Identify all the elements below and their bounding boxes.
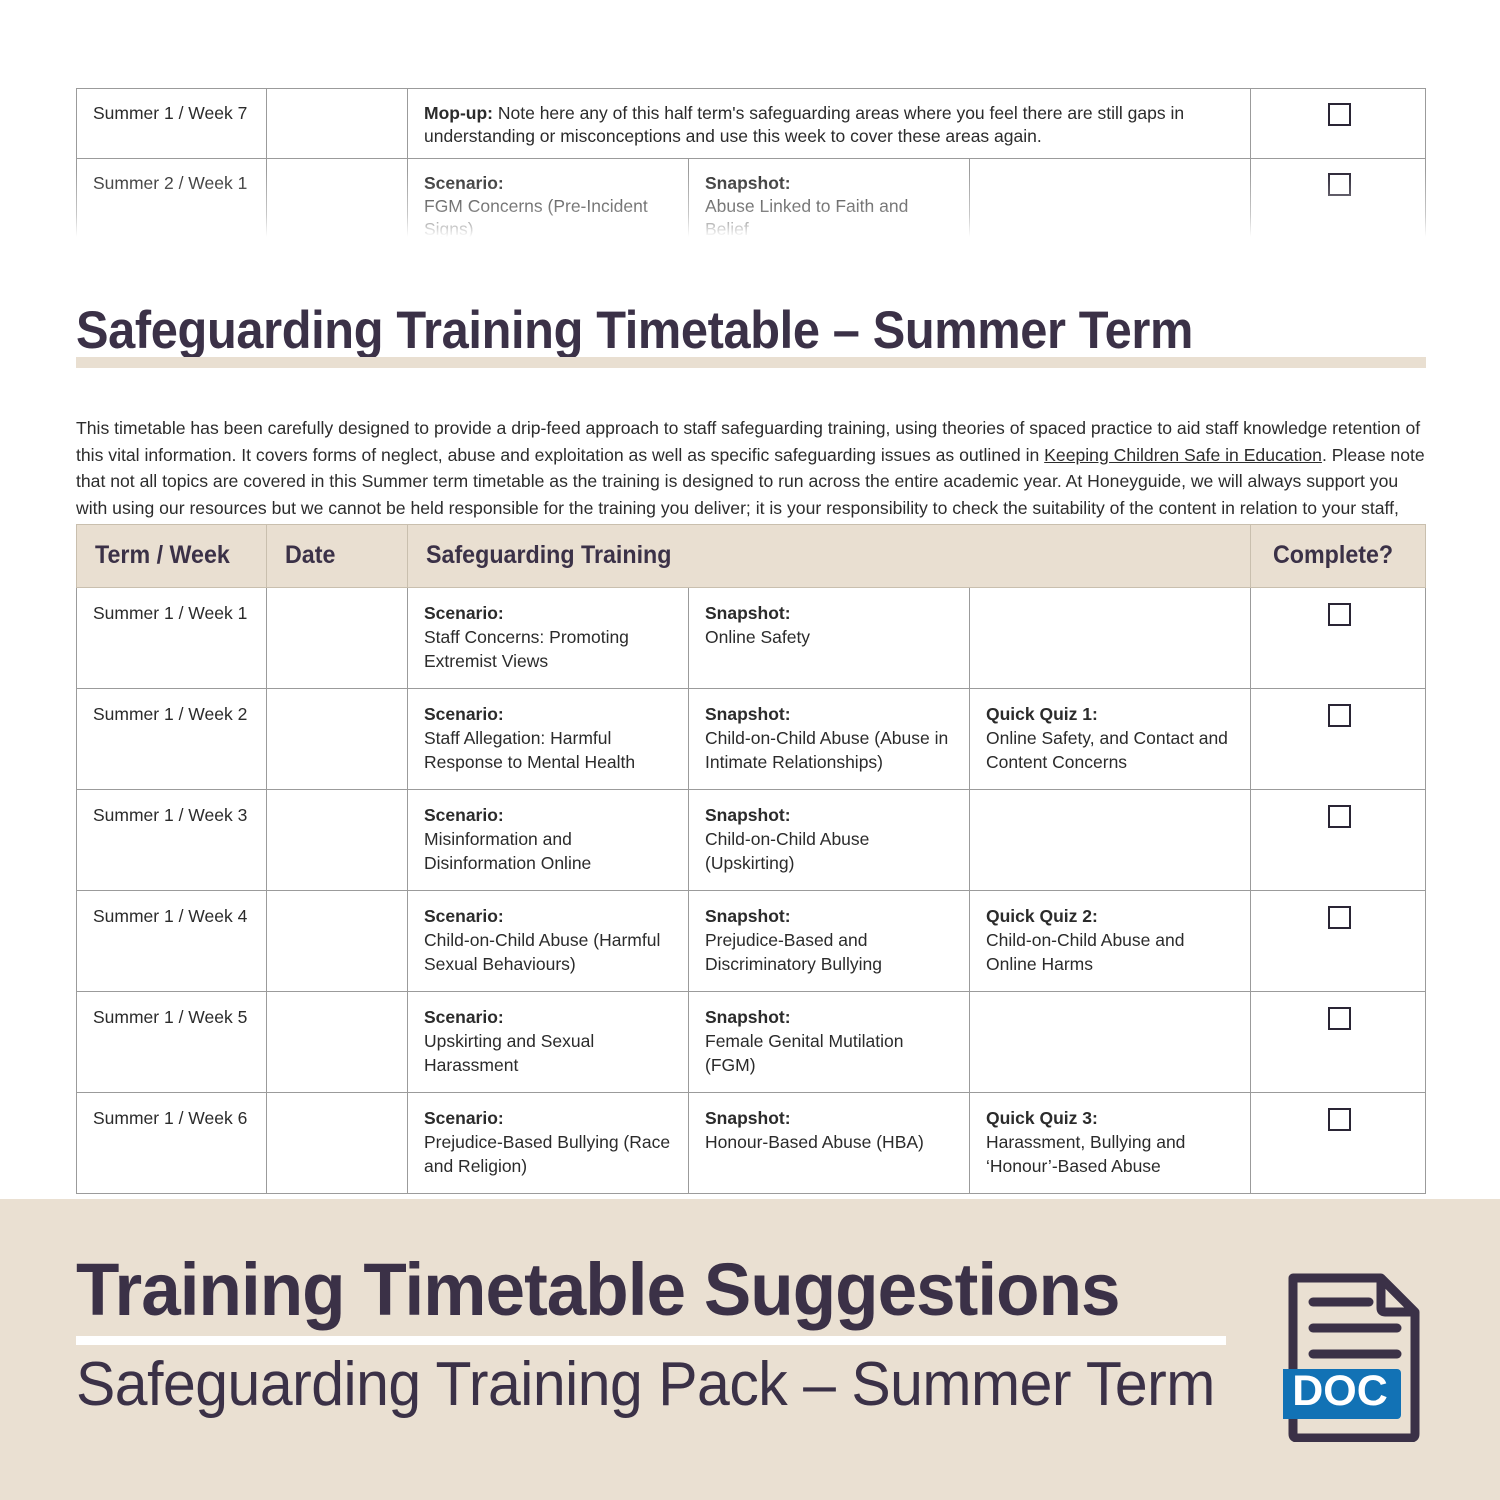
- row-scenario-text: Prejudice-Based Bullying (Race and Relig…: [424, 1132, 670, 1176]
- row-snapshot: Snapshot:Online Safety: [689, 588, 970, 689]
- checkbox[interactable]: [1328, 103, 1351, 126]
- row-snapshot-label: Snapshot:: [705, 703, 955, 727]
- row-quick-quiz-text: Child-on-Child Abuse and Online Harms: [986, 930, 1184, 974]
- fragment-date[interactable]: [267, 159, 408, 237]
- row-scenario: Scenario:Child-on-Child Abuse (Harmful S…: [408, 891, 689, 992]
- row-term-week: Summer 1 / Week 3: [77, 790, 267, 891]
- bottom-banner: Training Timetable Suggestions Safeguard…: [0, 1199, 1500, 1500]
- row-scenario: Scenario:Prejudice-Based Bullying (Race …: [408, 1093, 689, 1194]
- row-complete-cell[interactable]: [1251, 1093, 1426, 1194]
- snapshot-text: Abuse Linked to Faith and Belief: [705, 196, 908, 237]
- row-snapshot: Snapshot:Honour-Based Abuse (HBA): [689, 1093, 970, 1194]
- table-row: Summer 1 / Week 4Scenario:Child-on-Child…: [77, 891, 1426, 992]
- column-header-date: Date: [267, 525, 408, 588]
- row-date[interactable]: [267, 992, 408, 1093]
- row-snapshot: Snapshot:Prejudice-Based and Discriminat…: [689, 891, 970, 992]
- row-date[interactable]: [267, 1093, 408, 1194]
- fragment-complete-cell[interactable]: [1251, 89, 1426, 159]
- fragment-complete-cell[interactable]: [1251, 159, 1426, 237]
- title-underline-bar: [76, 357, 1426, 368]
- row-date[interactable]: [267, 689, 408, 790]
- row-quick-quiz: [970, 992, 1251, 1093]
- column-header-term-week: Term / Week: [77, 525, 267, 588]
- table-row: Summer 1 / Week 1Scenario:Staff Concerns…: [77, 588, 1426, 689]
- row-snapshot-text: Female Genital Mutilation (FGM): [705, 1031, 903, 1075]
- table-row: Summer 2 / Week 1 Scenario:FGM Concerns …: [77, 159, 1426, 237]
- row-snapshot-label: Snapshot:: [705, 602, 955, 626]
- row-quick-quiz: [970, 588, 1251, 689]
- row-term-week: Summer 1 / Week 2: [77, 689, 267, 790]
- row-term-week-text: Summer 1 / Week 2: [93, 704, 247, 724]
- row-snapshot: Snapshot:Female Genital Mutilation (FGM): [689, 992, 970, 1093]
- row-term-week-text: Summer 1 / Week 4: [93, 906, 247, 926]
- row-snapshot-text: Prejudice-Based and Discriminatory Bully…: [705, 930, 882, 974]
- row-scenario: Scenario:Staff Concerns: Promoting Extre…: [408, 588, 689, 689]
- row-snapshot-text: Online Safety: [705, 627, 810, 647]
- scenario-text: FGM Concerns (Pre-Incident Signs): [424, 196, 648, 237]
- column-header-training-label: Safeguarding Training: [426, 541, 671, 570]
- row-term-week-text: Summer 1 / Week 3: [93, 805, 247, 825]
- row-term-week: Summer 1 / Week 5: [77, 992, 267, 1093]
- row-date[interactable]: [267, 790, 408, 891]
- row-scenario-text: Staff Allegation: Harmful Response to Me…: [424, 728, 635, 772]
- row-quick-quiz-text: Harassment, Bullying and ‘Honour’-Based …: [986, 1132, 1185, 1176]
- row-term-week-text: Summer 1 / Week 6: [93, 1108, 247, 1128]
- row-scenario-label: Scenario:: [424, 804, 674, 828]
- main-document-page: Safeguarding Training Timetable – Summer…: [0, 237, 1500, 1199]
- table-row: Summer 1 / Week 7 Mop-up: Note here any …: [77, 89, 1426, 159]
- checkbox[interactable]: [1328, 603, 1351, 626]
- row-snapshot: Snapshot:Child-on-Child Abuse (Abuse in …: [689, 689, 970, 790]
- checkbox[interactable]: [1328, 1108, 1351, 1131]
- row-term-week: Summer 1 / Week 1: [77, 588, 267, 689]
- row-scenario-text: Misinformation and Disinformation Online: [424, 829, 591, 873]
- row-term-week-text: Summer 1 / Week 5: [93, 1007, 247, 1027]
- banner-divider: [76, 1336, 1226, 1345]
- row-scenario: Scenario:Misinformation and Disinformati…: [408, 790, 689, 891]
- column-header-date-label: Date: [285, 541, 335, 570]
- fragment-date[interactable]: [267, 89, 408, 159]
- row-scenario-text: Upskirting and Sexual Harassment: [424, 1031, 594, 1075]
- checkbox[interactable]: [1328, 805, 1351, 828]
- row-snapshot-label: Snapshot:: [705, 1107, 955, 1131]
- row-quick-quiz-label: Quick Quiz 2:: [986, 905, 1236, 929]
- row-quick-quiz: Quick Quiz 3:Harassment, Bullying and ‘H…: [970, 1093, 1251, 1194]
- mopup-label: Mop-up:: [424, 103, 493, 123]
- row-complete-cell[interactable]: [1251, 790, 1426, 891]
- row-snapshot-label: Snapshot:: [705, 1006, 955, 1030]
- table-header-row: Term / Week Date Safeguarding Training C…: [77, 525, 1426, 588]
- checkbox[interactable]: [1328, 1007, 1351, 1030]
- row-scenario-label: Scenario:: [424, 602, 674, 626]
- row-complete-cell[interactable]: [1251, 689, 1426, 790]
- row-quick-quiz: [970, 790, 1251, 891]
- fragment-scenario-cell: Scenario:FGM Concerns (Pre-Incident Sign…: [408, 159, 689, 237]
- page-title: Safeguarding Training Timetable – Summer…: [76, 300, 1193, 361]
- row-date[interactable]: [267, 588, 408, 689]
- row-scenario: Scenario:Staff Allegation: Harmful Respo…: [408, 689, 689, 790]
- timetable: Term / Week Date Safeguarding Training C…: [76, 524, 1426, 1194]
- column-header-complete: Complete?: [1251, 525, 1426, 588]
- fragment-table: Summer 1 / Week 7 Mop-up: Note here any …: [76, 88, 1426, 237]
- table-row: Summer 1 / Week 6Scenario:Prejudice-Base…: [77, 1093, 1426, 1194]
- table-row: Summer 1 / Week 2Scenario:Staff Allegati…: [77, 689, 1426, 790]
- fragment-term-week: Summer 2 / Week 1: [77, 159, 267, 237]
- fragment-mopup-cell: Mop-up: Note here any of this half term'…: [408, 89, 1251, 159]
- fragment-snapshot-cell: Snapshot:Abuse Linked to Faith and Belie…: [689, 159, 970, 237]
- table-row: Summer 1 / Week 5Scenario:Upskirting and…: [77, 992, 1426, 1093]
- row-scenario-label: Scenario:: [424, 1107, 674, 1131]
- mopup-text: Note here any of this half term's safegu…: [424, 103, 1184, 146]
- table-row: Summer 1 / Week 3Scenario:Misinformation…: [77, 790, 1426, 891]
- row-quick-quiz-text: Online Safety, and Contact and Content C…: [986, 728, 1228, 772]
- snapshot-label: Snapshot:: [705, 172, 955, 195]
- checkbox[interactable]: [1328, 704, 1351, 727]
- checkbox[interactable]: [1328, 906, 1351, 929]
- row-term-week-text: Summer 1 / Week 1: [93, 603, 247, 623]
- row-scenario: Scenario:Upskirting and Sexual Harassmen…: [408, 992, 689, 1093]
- top-document-fragment: Summer 1 / Week 7 Mop-up: Note here any …: [0, 0, 1500, 237]
- row-term-week: Summer 1 / Week 4: [77, 891, 267, 992]
- row-complete-cell[interactable]: [1251, 891, 1426, 992]
- row-snapshot: Snapshot:Child-on-Child Abuse (Upskirtin…: [689, 790, 970, 891]
- row-complete-cell[interactable]: [1251, 588, 1426, 689]
- row-quick-quiz-label: Quick Quiz 1:: [986, 703, 1236, 727]
- row-quick-quiz: Quick Quiz 2:Child-on-Child Abuse and On…: [970, 891, 1251, 992]
- doc-file-icon: DOC: [1283, 1272, 1431, 1442]
- banner-subtitle: Safeguarding Training Pack – Summer Term: [76, 1349, 1215, 1420]
- fragment-quiz-cell: [970, 159, 1251, 237]
- row-snapshot-text: Honour-Based Abuse (HBA): [705, 1132, 924, 1152]
- banner-title: Training Timetable Suggestions: [76, 1247, 1120, 1332]
- column-header-training: Safeguarding Training: [408, 525, 1251, 588]
- row-snapshot-label: Snapshot:: [705, 804, 955, 828]
- row-quick-quiz-label: Quick Quiz 3:: [986, 1107, 1236, 1131]
- row-snapshot-label: Snapshot:: [705, 905, 955, 929]
- row-scenario-text: Child-on-Child Abuse (Harmful Sexual Beh…: [424, 930, 660, 974]
- row-quick-quiz: Quick Quiz 1:Online Safety, and Contact …: [970, 689, 1251, 790]
- row-scenario-label: Scenario:: [424, 703, 674, 727]
- checkbox[interactable]: [1328, 173, 1351, 196]
- row-snapshot-text: Child-on-Child Abuse (Upskirting): [705, 829, 869, 873]
- row-date[interactable]: [267, 891, 408, 992]
- row-scenario-label: Scenario:: [424, 1006, 674, 1030]
- kcsie-link[interactable]: Keeping Children Safe in Education: [1044, 445, 1322, 465]
- row-complete-cell[interactable]: [1251, 992, 1426, 1093]
- row-term-week: Summer 1 / Week 6: [77, 1093, 267, 1194]
- column-header-complete-label: Complete?: [1273, 541, 1393, 570]
- row-scenario-text: Staff Concerns: Promoting Extremist View…: [424, 627, 629, 671]
- row-scenario-label: Scenario:: [424, 905, 674, 929]
- column-header-term-week-label: Term / Week: [95, 541, 230, 570]
- fragment-term-week: Summer 1 / Week 7: [77, 89, 267, 159]
- row-snapshot-text: Child-on-Child Abuse (Abuse in Intimate …: [705, 728, 948, 772]
- scenario-label: Scenario:: [424, 172, 674, 195]
- doc-badge-label: DOC: [1292, 1367, 1388, 1415]
